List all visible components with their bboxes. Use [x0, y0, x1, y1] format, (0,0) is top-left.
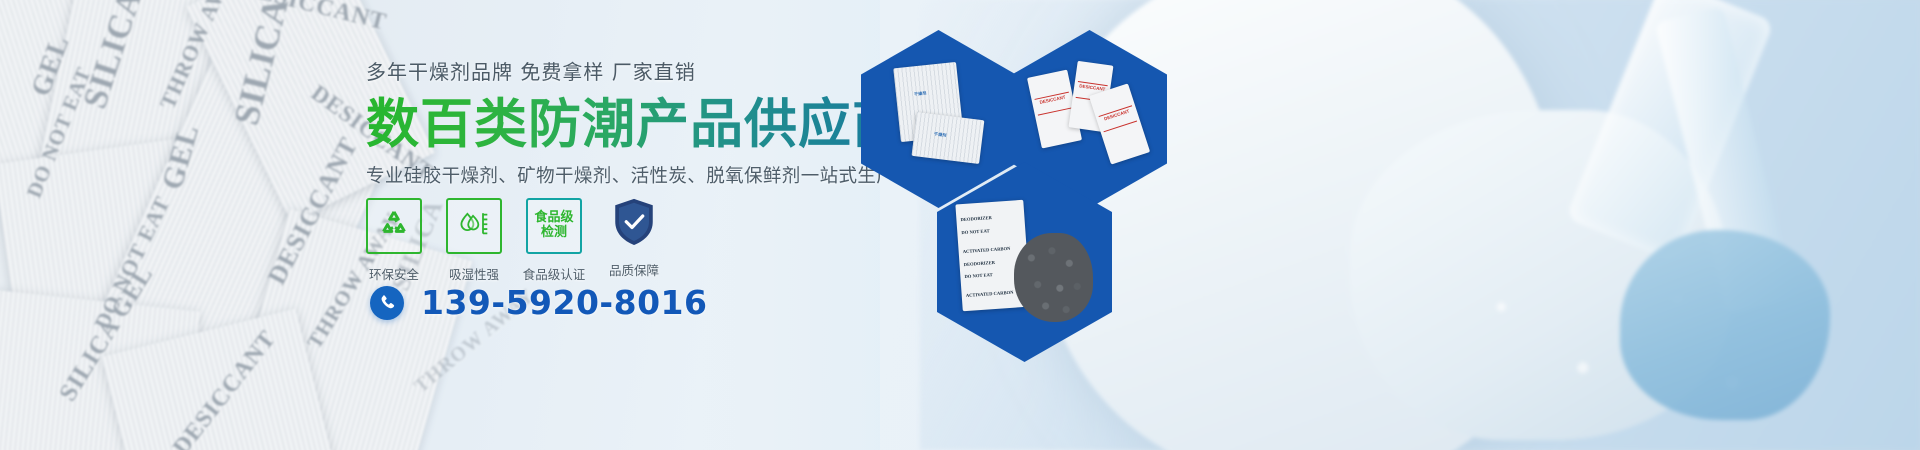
product-hexagon-group: 干燥剂 干燥剂 DESICCANT DESICCANT DESICCANT D: [855, 22, 1185, 432]
carbon-line: ACTIVATED CARBON: [963, 245, 1011, 253]
phone-number: 139-5920-8016: [421, 283, 707, 322]
carbon-line: ACTIVATED CARBON: [966, 290, 1014, 298]
carbon-line: DO NOT EAT: [961, 227, 989, 234]
food-grade-icon-box: 食品级检测: [526, 198, 582, 254]
carbon-line: DEODORIZER: [963, 259, 995, 266]
badge-label: 环保安全: [369, 264, 419, 283]
tagline: 多年干燥剂品牌 免费拿样 厂家直销: [366, 56, 866, 85]
page-title: 数百类防潮产品供应商: [366, 95, 866, 154]
subtitle: 专业硅胶干燥剂、矿物干燥剂、活性炭、脱氧保鲜剂一站式生产厂家: [366, 162, 866, 188]
badge-label: 吸湿性强: [449, 264, 499, 283]
promo-banner: SILICA GEL DO NOT EAT THROW AWAY DESICCA…: [0, 0, 1920, 450]
phone-icon: [370, 286, 404, 320]
desiccant-label: DESICCANT: [1035, 92, 1071, 108]
badge-food-grade: 食品级检测 食品级认证: [526, 198, 582, 283]
badge-eco-safety: 环保安全: [366, 198, 422, 283]
recycle-icon-box: [366, 198, 422, 254]
feature-badge-list: 环保安全 吸湿性强 食品级检测 食品级认证: [366, 198, 662, 283]
badge-moisture-absorb: 吸湿性强: [446, 198, 502, 283]
water-drop-icon: [456, 207, 492, 246]
headline-block: 多年干燥剂品牌 免费拿样 厂家直销 数百类防潮产品供应商 专业硅胶干燥剂、矿物干…: [366, 56, 866, 188]
contact-phone[interactable]: 139-5920-8016: [370, 283, 707, 322]
shield-icon: [612, 197, 656, 252]
water-drop-icon-box: [446, 198, 502, 254]
packet-brand-label: 干燥剂: [933, 131, 946, 138]
badge-quality-guarantee: 品质保障: [606, 198, 662, 283]
recycle-icon: [377, 207, 411, 246]
carbon-line: DEODORIZER: [960, 214, 992, 221]
packet-brand-label: 干燥剂: [914, 90, 927, 97]
carbon-granules: [1014, 233, 1093, 322]
desiccant-label: DESICCANT: [1099, 106, 1134, 125]
carbon-line: DO NOT EAT: [964, 272, 992, 279]
shield-icon-box: [608, 198, 660, 250]
badge-label: 品质保障: [609, 260, 659, 279]
food-grade-icon: 食品级检测: [534, 211, 573, 240]
badge-label: 食品级认证: [523, 264, 586, 283]
